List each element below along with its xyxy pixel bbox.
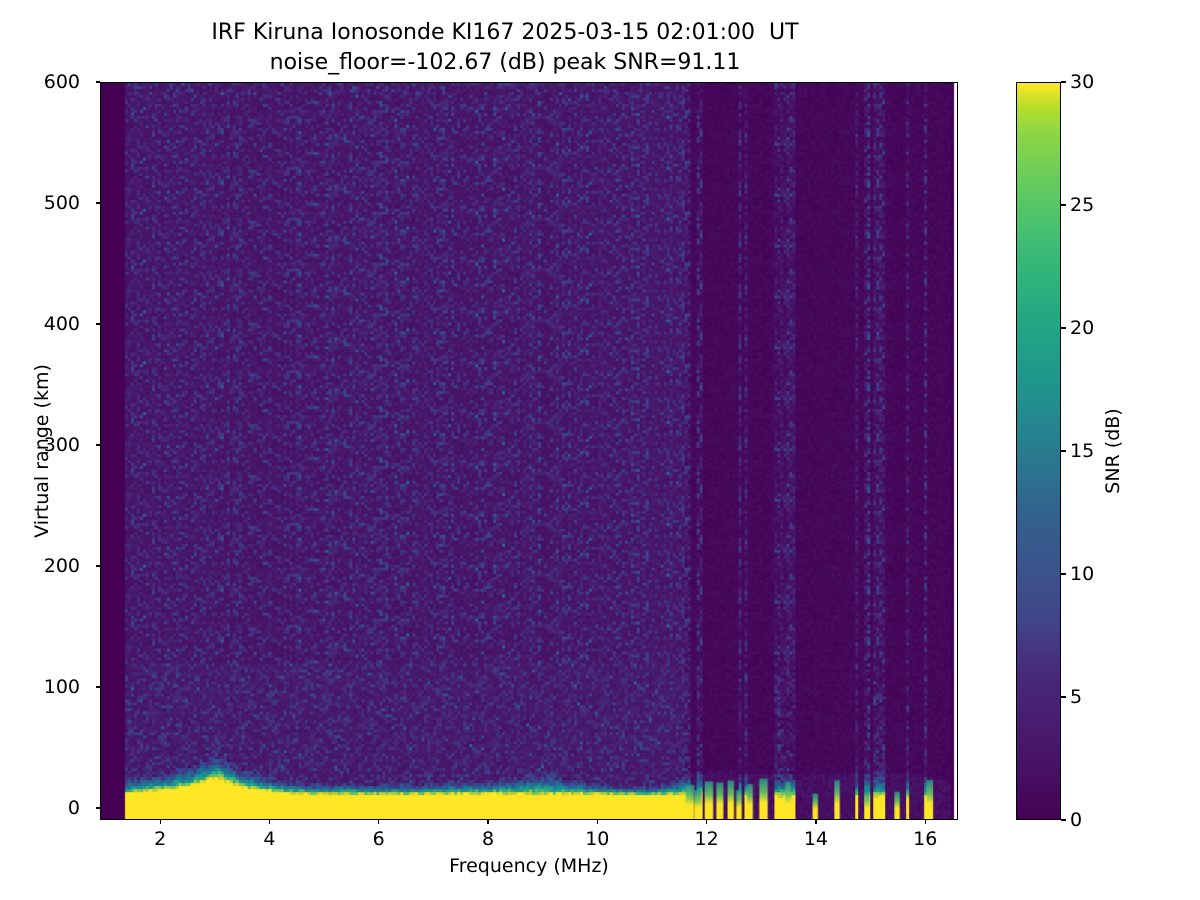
colorbar-tick-mark xyxy=(1061,573,1066,574)
x-tick-mark xyxy=(597,820,598,824)
title-line-2: noise_floor=-102.67 (dB) peak SNR=91.11 xyxy=(270,50,741,75)
x-tick-mark xyxy=(815,820,816,824)
ionogram-figure: IRF Kiruna Ionosonde KI167 2025-03-15 02… xyxy=(0,0,1200,900)
x-tick-mark xyxy=(378,820,379,824)
x-tick-label: 6 xyxy=(339,828,419,850)
colorbar xyxy=(1016,82,1061,820)
x-tick-label: 12 xyxy=(667,828,747,850)
colorbar-tick-mark xyxy=(1061,327,1066,328)
x-tick-label: 10 xyxy=(557,828,637,850)
y-tick-mark xyxy=(96,323,100,324)
y-tick-mark xyxy=(96,686,100,687)
x-tick-mark xyxy=(160,820,161,824)
x-tick-mark xyxy=(925,820,926,824)
y-axis-label: Virtual range (km) xyxy=(31,241,53,661)
ionogram-heatmap xyxy=(101,83,957,819)
colorbar-tick-label: 5 xyxy=(1070,688,1118,707)
y-tick-mark xyxy=(96,444,100,445)
colorbar-tick-mark xyxy=(1061,204,1066,205)
y-tick-mark xyxy=(96,81,100,82)
y-tick-label: 0 xyxy=(20,799,80,818)
colorbar-tick-mark xyxy=(1061,81,1066,82)
colorbar-tick-label: 30 xyxy=(1070,73,1118,92)
x-tick-mark xyxy=(269,820,270,824)
title-line-1: IRF Kiruna Ionosonde KI167 2025-03-15 02… xyxy=(211,20,798,45)
y-tick-label: 100 xyxy=(20,678,80,697)
x-tick-label: 2 xyxy=(120,828,200,850)
colorbar-label: SNR (dB) xyxy=(1102,286,1124,616)
colorbar-tick-mark xyxy=(1061,450,1066,451)
x-axis-label: Frequency (MHz) xyxy=(100,855,958,877)
x-tick-mark xyxy=(706,820,707,824)
colorbar-tick-mark xyxy=(1061,696,1066,697)
figure-title: IRF Kiruna Ionosonde KI167 2025-03-15 02… xyxy=(0,18,1010,78)
y-tick-mark xyxy=(96,807,100,808)
x-tick-label: 14 xyxy=(776,828,856,850)
colorbar-tick-mark xyxy=(1061,819,1066,820)
y-tick-mark xyxy=(96,565,100,566)
plot-area xyxy=(100,82,958,820)
y-tick-mark xyxy=(96,202,100,203)
y-tick-label: 600 xyxy=(20,73,80,92)
x-tick-mark xyxy=(487,820,488,824)
colorbar-tick-label: 25 xyxy=(1070,196,1118,215)
colorbar-tick-label: 0 xyxy=(1070,811,1118,830)
x-tick-label: 16 xyxy=(885,828,965,850)
x-tick-label: 4 xyxy=(229,828,309,850)
x-tick-label: 8 xyxy=(448,828,528,850)
y-tick-label: 500 xyxy=(20,194,80,213)
